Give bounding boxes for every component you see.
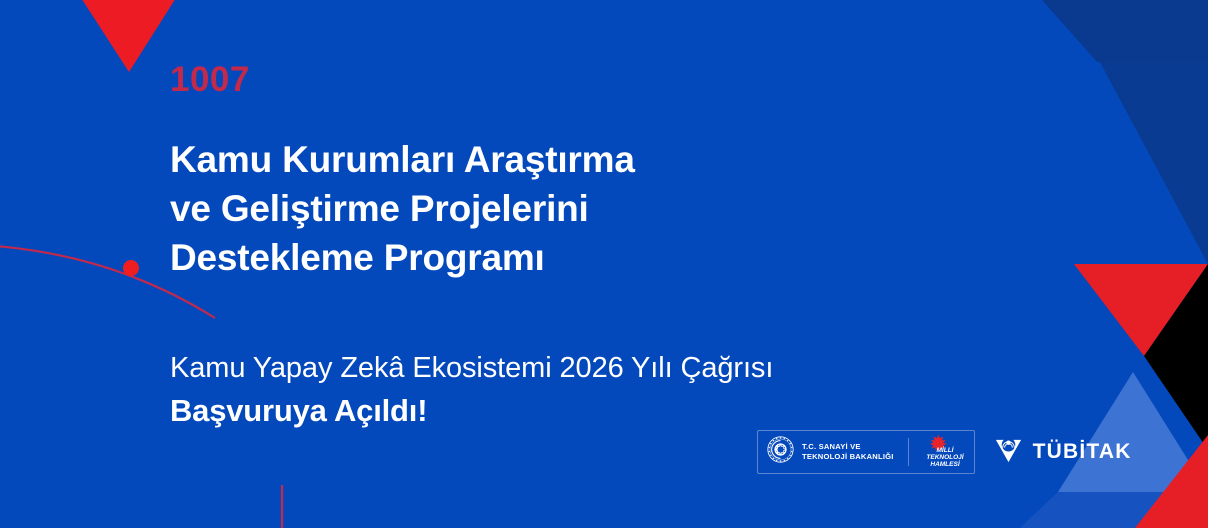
logo-divider bbox=[908, 438, 909, 466]
program-code: 1007 bbox=[170, 62, 250, 97]
svg-text:HAMLESİ: HAMLESİ bbox=[930, 460, 960, 468]
svg-text:MİLLİ: MİLLİ bbox=[936, 446, 954, 454]
ministry-line-2: TEKNOLOJİ BAKANLIĞI bbox=[802, 452, 894, 461]
call-subtitle: Kamu Yapay Zekâ Ekosistemi 2026 Yılı Çağ… bbox=[170, 350, 773, 386]
turkish-ministry-gear-emblem bbox=[767, 436, 794, 468]
blue-triangle-lower-left bbox=[1020, 492, 1096, 528]
tubitak-chevron-emblem bbox=[993, 434, 1024, 470]
red-dot-marker bbox=[123, 260, 139, 276]
page-title: Kamu Kurumları Araştırma ve Geliştirme P… bbox=[170, 135, 635, 283]
red-triangle-bottom-right bbox=[1074, 264, 1208, 356]
ministry-logo-block: T.C. SANAYİ VETEKNOLOJİ BAKANLIĞI MİLLİ … bbox=[757, 430, 975, 474]
dark-triangle-right-upper bbox=[1100, 62, 1208, 264]
milli-teknoloji-hamlesi-logo: MİLLİ TEKNOLOJİ HAMLESİ bbox=[923, 434, 965, 470]
dark-wedge-right bbox=[1100, 62, 1208, 264]
black-triangle bbox=[1144, 264, 1208, 450]
svg-text:TEKNOLOJİ: TEKNOLOJİ bbox=[926, 453, 964, 461]
campaign-banner: 1007 Kamu Kurumları Araştırma ve Gelişti… bbox=[0, 0, 1208, 528]
tubitak-logo-block: TÜBİTAK bbox=[993, 434, 1132, 470]
ministry-logo-text: T.C. SANAYİ VETEKNOLOJİ BAKANLIĞI bbox=[802, 442, 894, 463]
call-status-text: Başvuruya Açıldı! bbox=[170, 392, 427, 431]
dark-triangle-top-right bbox=[1042, 0, 1208, 62]
tubitak-wordmark: TÜBİTAK bbox=[1033, 440, 1132, 464]
ministry-line-1: T.C. SANAYİ VE bbox=[802, 442, 861, 451]
red-triangle-top-left bbox=[76, 0, 181, 72]
red-triangle-corner-bottom bbox=[1135, 435, 1208, 528]
logo-bar: T.C. SANAYİ VETEKNOLOJİ BAKANLIĞI MİLLİ … bbox=[757, 430, 1132, 474]
blue-triangle-lower bbox=[1058, 492, 1208, 528]
